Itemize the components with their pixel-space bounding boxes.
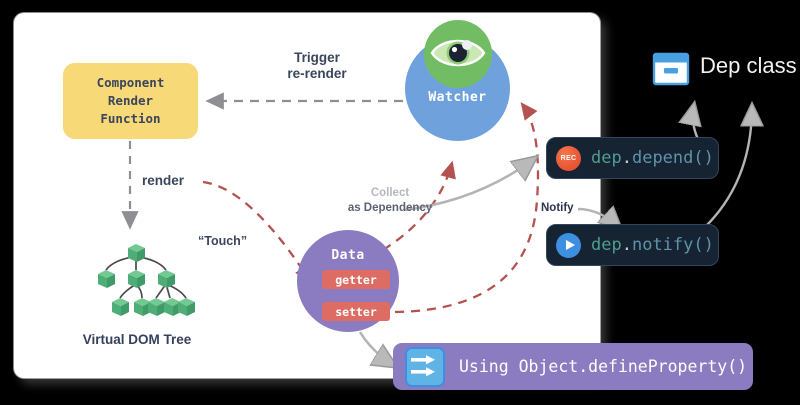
define-property-text: Using Object.defineProperty(): [459, 357, 747, 376]
dep-depend-pill[interactable]: REC dep.depend(): [546, 137, 719, 179]
virtual-dom-tree-label: Virtual DOM Tree: [52, 332, 222, 347]
getter-box: getter: [322, 270, 390, 289]
render-label: render: [142, 173, 184, 189]
dep-depend-method: depend(): [632, 148, 714, 168]
diagram-canvas: Component Render Function Watcher Data g…: [0, 0, 800, 405]
component-render-function-box: Component Render Function: [63, 63, 198, 139]
dep-notify-code: dep.notify(): [591, 235, 714, 255]
virtual-dom-tree-icon: [72, 240, 200, 318]
data-label: Data: [297, 248, 399, 263]
watcher-label: Watcher: [405, 90, 510, 105]
record-icon: REC: [556, 146, 581, 171]
dep-notify-pill[interactable]: dep.notify(): [546, 224, 719, 266]
two-arrows-icon: [405, 347, 445, 387]
dep-class-label: Dep class: [700, 53, 797, 79]
setter-box: setter: [322, 302, 390, 321]
dep-notify-dot: .: [622, 235, 632, 255]
collect-line2: as Dependency: [348, 202, 432, 214]
trigger-rerender-label: Trigger re-render: [262, 50, 372, 83]
dep-depend-object: dep: [591, 148, 622, 168]
dep-depend-code: dep.depend(): [591, 148, 714, 168]
play-icon: [556, 233, 581, 258]
dep-depend-dot: .: [622, 148, 632, 168]
eye-icon: [430, 33, 486, 73]
dep-notify-object: dep: [591, 235, 622, 255]
dep-notify-method: notify(): [632, 235, 714, 255]
collect-line1: Collect: [371, 187, 409, 199]
notify-label: Notify: [541, 201, 574, 215]
component-render-function-label: Component Render Function: [97, 74, 165, 128]
define-property-pill[interactable]: Using Object.defineProperty(): [393, 343, 753, 390]
touch-label: “Touch”: [198, 234, 247, 249]
window-icon: [652, 50, 690, 88]
collect-as-dependency-label: Collect as Dependency: [330, 186, 450, 216]
